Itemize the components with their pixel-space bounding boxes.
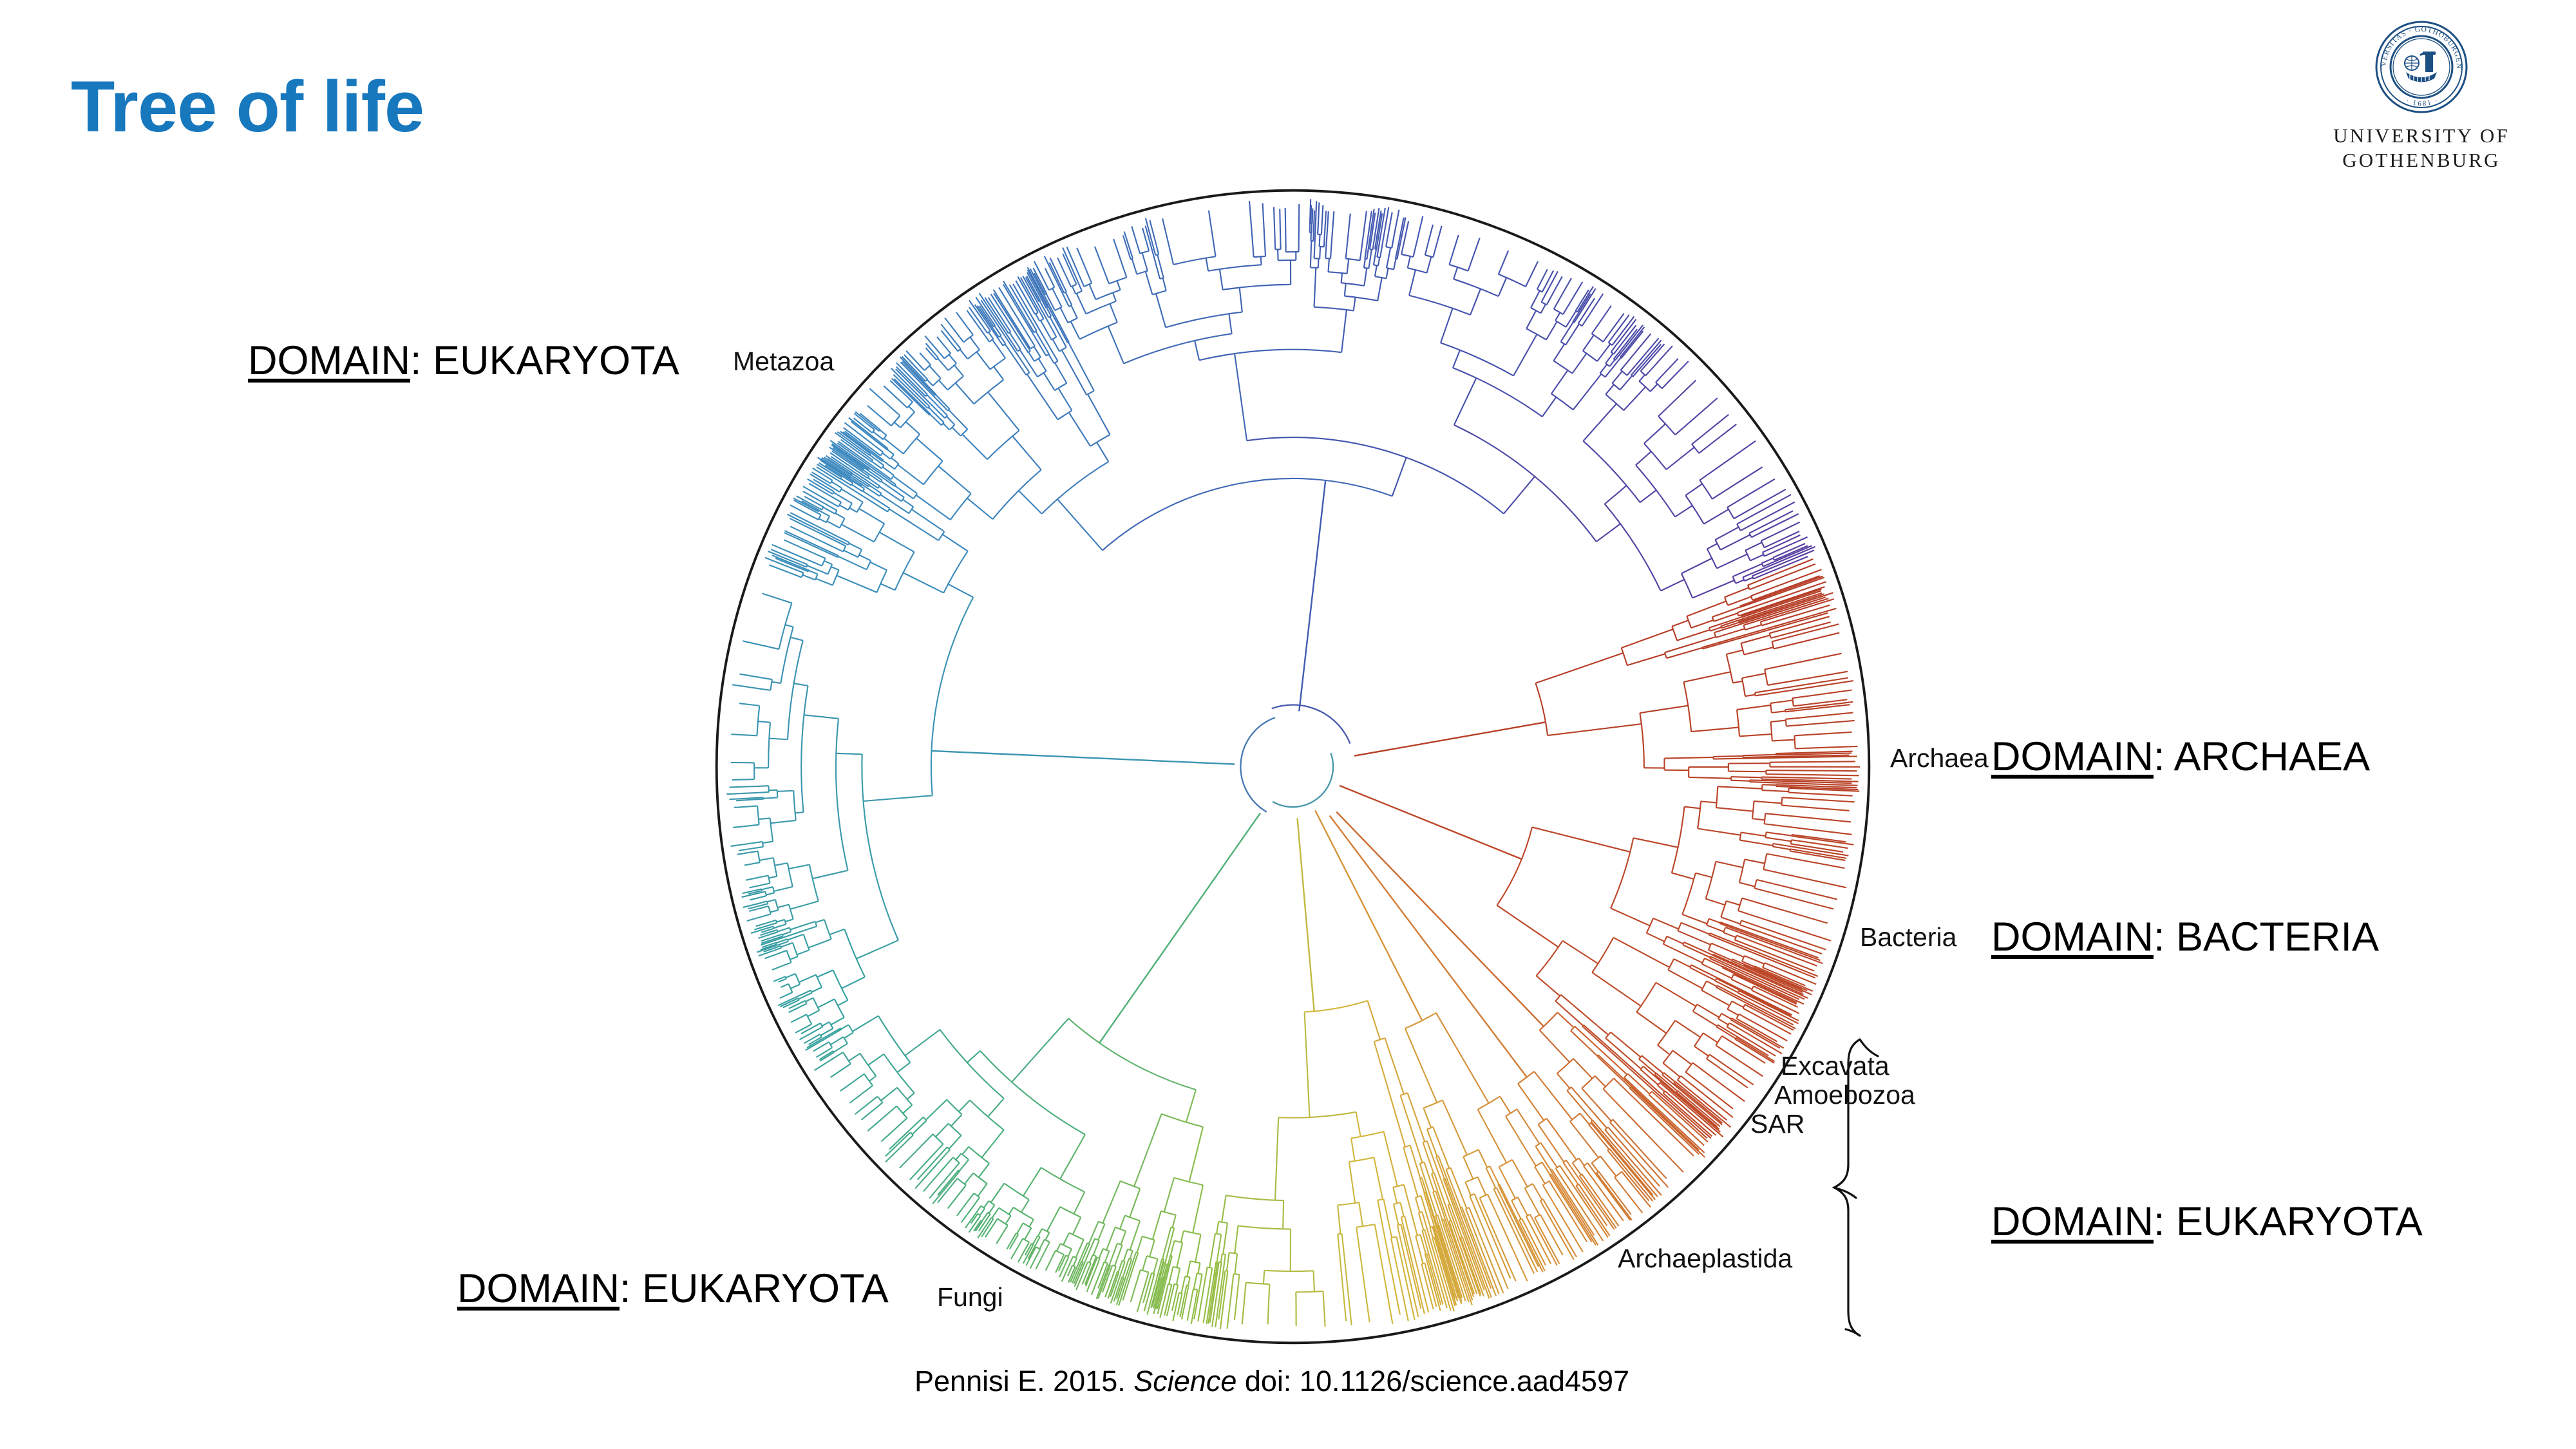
- clade-label-sar: SAR: [1750, 1111, 1804, 1138]
- domain-separator: :: [2154, 1199, 2176, 1244]
- domain-annotation-eukaryota-top: DOMAIN: EUKARYOTA: [248, 337, 679, 384]
- domain-annotation-eukaryota-bottom: DOMAIN: EUKARYOTA: [457, 1265, 889, 1312]
- domain-separator: :: [410, 338, 433, 383]
- phylogram-svg: [699, 173, 1887, 1361]
- figure-citation: Pennisi E. 2015. Science doi: 10.1126/sc…: [914, 1365, 1629, 1398]
- clade-label-bacteria: Bacteria: [1860, 924, 1956, 951]
- domain-separator: :: [2154, 734, 2174, 779]
- domain-name: EUKARYOTA: [642, 1266, 889, 1311]
- tree-branches: [726, 199, 1860, 1329]
- domain-keyword: DOMAIN: [248, 338, 410, 383]
- domain-name: ARCHAEA: [2174, 734, 2371, 779]
- eukaryote-grouping-brace: [1829, 1036, 1951, 1338]
- domain-separator: :: [2154, 914, 2176, 960]
- university-logo: UNIVERSITAS · GOTHOBURGENSIS · 1891 · UN…: [2325, 19, 2518, 173]
- citation-journal: Science: [1133, 1365, 1236, 1397]
- domain-name: EUKARYOTA: [2176, 1199, 2423, 1244]
- domain-keyword: DOMAIN: [1991, 914, 2154, 960]
- logo-wordmark-line1: UNIVERSITY OF: [2325, 124, 2518, 148]
- domain-keyword: DOMAIN: [1991, 734, 2154, 779]
- domain-name: EUKARYOTA: [433, 338, 679, 383]
- domain-separator: :: [620, 1266, 642, 1311]
- clade-label-metazoa: Metazoa: [733, 348, 834, 375]
- domain-keyword: DOMAIN: [457, 1266, 620, 1311]
- logo-wordmark-line2: GOTHENBURG: [2325, 148, 2518, 173]
- page-title: Tree of life: [71, 71, 424, 143]
- domain-keyword: DOMAIN: [1991, 1199, 2154, 1244]
- citation-author-year: Pennisi E. 2015.: [914, 1365, 1126, 1397]
- domain-name: BACTERIA: [2176, 914, 2379, 960]
- clade-label-fungi: Fungi: [937, 1284, 1003, 1311]
- tree-of-life-figure: [699, 173, 1887, 1361]
- domain-annotation-bacteria: DOMAIN: BACTERIA: [1991, 914, 2379, 960]
- university-seal-icon: UNIVERSITAS · GOTHOBURGENSIS · 1891 ·: [2374, 19, 2469, 115]
- domain-annotation-eukaryota-right: DOMAIN: EUKARYOTA: [1991, 1198, 2423, 1245]
- clade-label-archaea: Archaea: [1890, 745, 1989, 772]
- domain-annotation-archaea: DOMAIN: ARCHAEA: [1991, 734, 2370, 780]
- citation-doi: doi: 10.1126/science.aad4597: [1245, 1365, 1629, 1397]
- clade-label-archaeplastida: Archaeplastida: [1618, 1245, 1792, 1273]
